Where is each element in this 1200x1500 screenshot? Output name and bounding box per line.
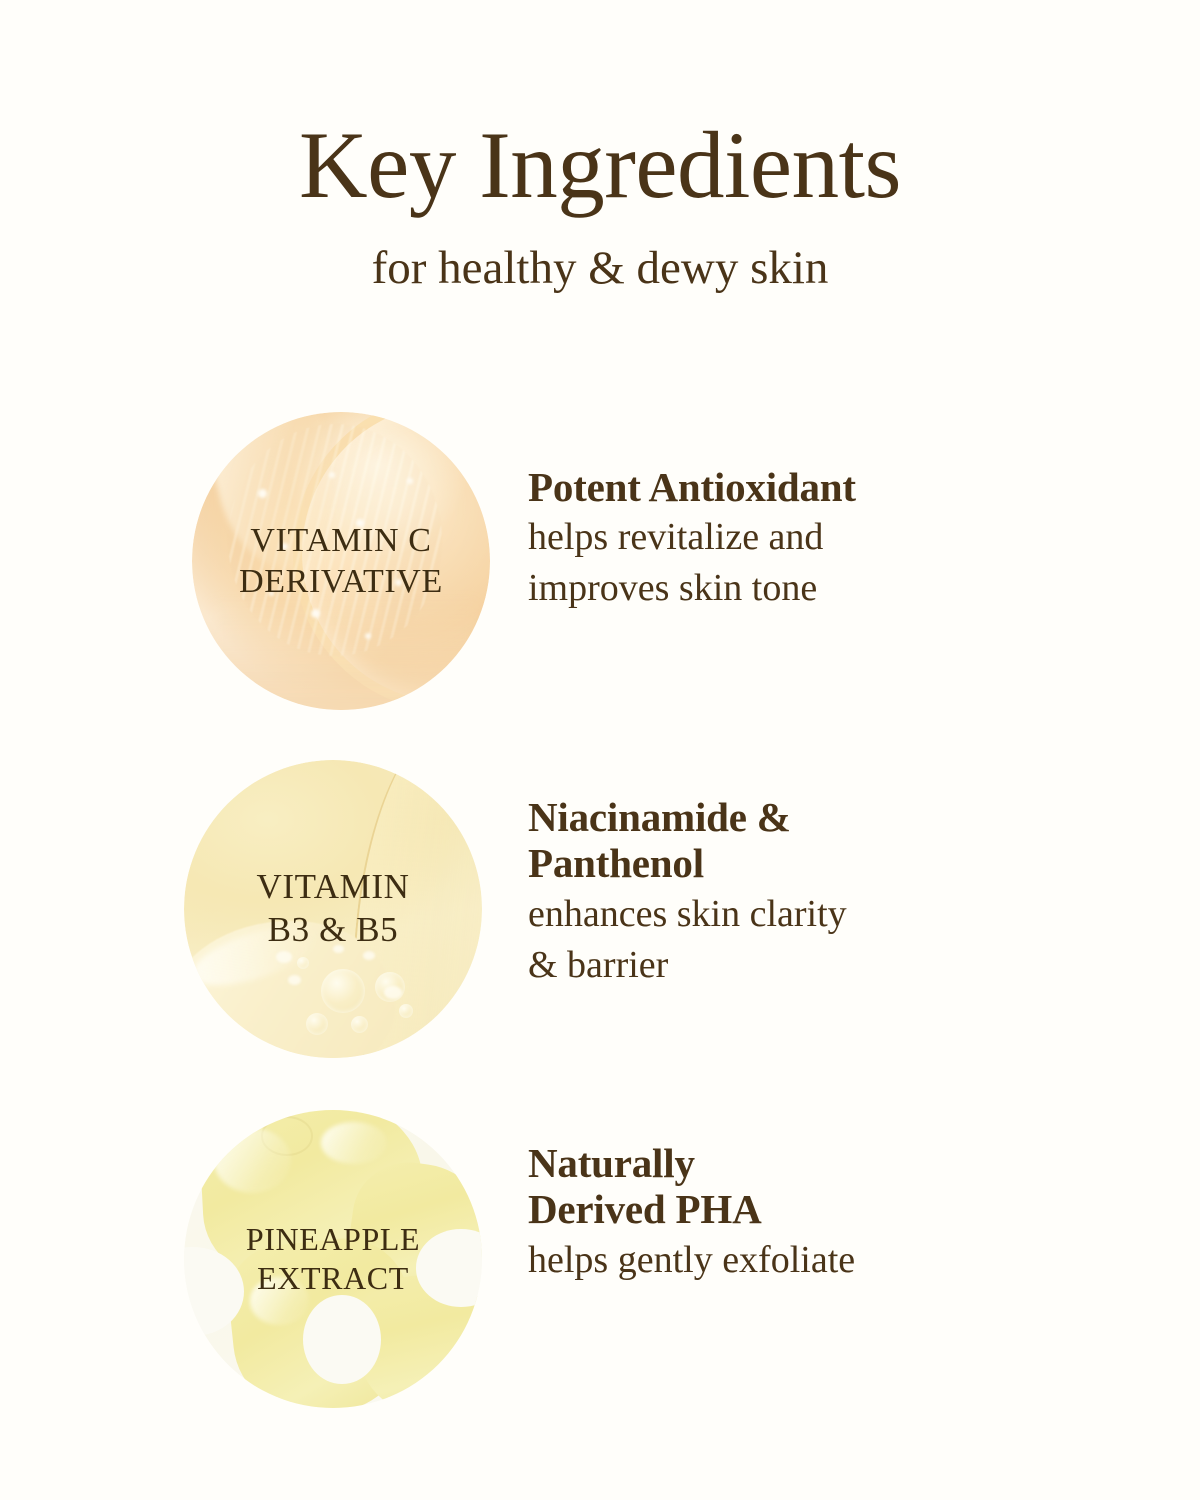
ingredient-description-line-1: helps gently exfoliate xyxy=(528,1237,1128,1284)
ingredient-description-line-1: enhances skin clarity xyxy=(528,891,1128,938)
ingredient-circle-label-vitamin-c: VITAMIN C DERIVATIVE xyxy=(239,520,443,603)
ingredient-text-pineapple: Naturally Derived PHA helps gently exfol… xyxy=(528,1140,1128,1284)
ingredient-item-vitamin-b: VITAMIN B3 & B5 Niacinamide & Panthenol … xyxy=(0,760,1200,1060)
ingredient-heading-line-2: Panthenol xyxy=(528,840,1128,886)
header: Key Ingredients for healthy & dewy skin xyxy=(0,0,1200,292)
ingredient-item-vitamin-c: VITAMIN C DERIVATIVE Potent Antioxidant … xyxy=(0,412,1200,712)
circle-label-line-2: EXTRACT xyxy=(246,1259,420,1298)
ingredient-circle-vitamin-c: VITAMIN C DERIVATIVE xyxy=(192,412,490,710)
ingredient-circle-label-vitamin-b: VITAMIN B3 & B5 xyxy=(256,866,409,951)
key-ingredients-infographic: Key Ingredients for healthy & dewy skin xyxy=(0,0,1200,1500)
ingredient-text-vitamin-c: Potent Antioxidant helps revitalize and … xyxy=(528,464,1128,613)
ingredient-heading-line-1: Potent Antioxidant xyxy=(528,464,1128,510)
circle-label-line-1: VITAMIN xyxy=(256,866,409,909)
ingredient-heading-line-1: Naturally xyxy=(528,1140,1128,1186)
circle-label-line-1: PINEAPPLE xyxy=(246,1220,420,1259)
ingredient-heading-line-1: Niacinamide & xyxy=(528,794,1128,840)
page-title: Key Ingredients xyxy=(0,118,1200,213)
ingredient-description-line-2: improves skin tone xyxy=(528,565,1128,612)
circle-label-line-2: DERIVATIVE xyxy=(239,561,443,602)
ingredient-text-vitamin-b: Niacinamide & Panthenol enhances skin cl… xyxy=(528,794,1128,989)
circle-label-line-2: B3 & B5 xyxy=(256,909,409,952)
ingredient-item-pineapple: PINEAPPLE EXTRACT Naturally Derived PHA … xyxy=(0,1110,1200,1410)
ingredient-description-line-1: helps revitalize and xyxy=(528,514,1128,561)
ingredient-circle-pineapple: PINEAPPLE EXTRACT xyxy=(184,1110,482,1408)
ingredient-circle-vitamin-b: VITAMIN B3 & B5 xyxy=(184,760,482,1058)
ingredient-description-line-2: & barrier xyxy=(528,942,1128,989)
ingredient-circle-label-pineapple: PINEAPPLE EXTRACT xyxy=(246,1220,420,1298)
circle-label-line-1: VITAMIN C xyxy=(239,520,443,561)
ingredient-heading-line-2: Derived PHA xyxy=(528,1186,1128,1232)
page-subtitle: for healthy & dewy skin xyxy=(0,245,1200,292)
